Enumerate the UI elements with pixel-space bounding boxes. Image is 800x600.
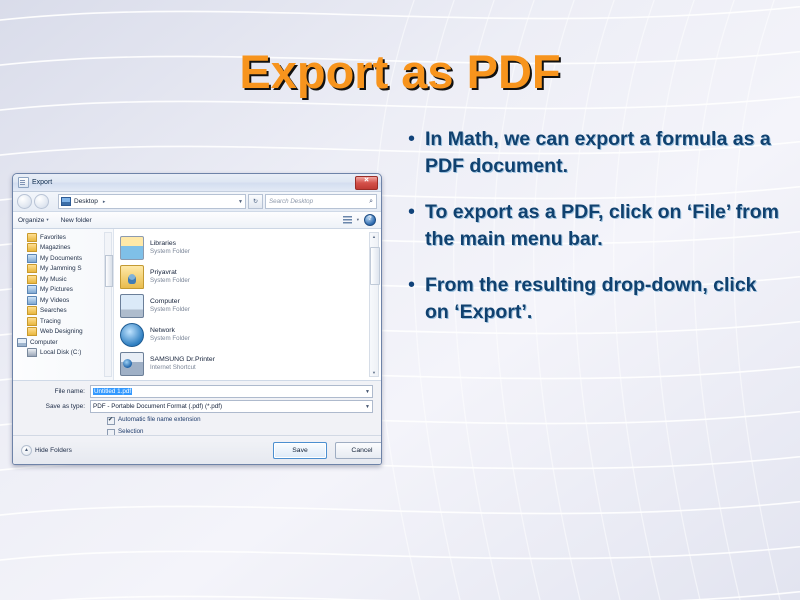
tree-item[interactable]: My Pictures bbox=[17, 285, 113, 296]
tree-item-label: Computer bbox=[30, 339, 58, 346]
network-icon bbox=[120, 323, 144, 347]
libraries-icon bbox=[120, 236, 144, 260]
computer-icon bbox=[17, 338, 27, 347]
folder-icon bbox=[27, 285, 37, 294]
desktop-icon bbox=[61, 197, 71, 206]
disk-icon bbox=[27, 348, 37, 357]
dialog-title: Export bbox=[32, 179, 52, 186]
save-button[interactable]: Save bbox=[273, 442, 327, 459]
folder-icon bbox=[27, 296, 37, 305]
help-icon[interactable]: ? bbox=[364, 214, 376, 226]
list-item: • From the resulting drop-down, click on… bbox=[408, 272, 780, 326]
tree-item[interactable]: My Videos bbox=[17, 295, 113, 306]
new-folder-button[interactable]: New folder bbox=[61, 217, 92, 224]
bullet-text: From the resulting drop-down, click on ‘… bbox=[425, 272, 780, 326]
folder-icon bbox=[27, 264, 37, 273]
search-input[interactable]: Search Desktop ⌕ bbox=[265, 194, 377, 209]
dialog-button-group: Save Cancel bbox=[273, 442, 382, 459]
tree-item-label: Magazines bbox=[40, 244, 70, 251]
tree-item[interactable]: Favorites bbox=[17, 232, 113, 243]
list-item[interactable]: Computer System Folder bbox=[120, 291, 381, 320]
tree-item-label: My Pictures bbox=[40, 286, 73, 293]
bullet-text: To export as a PDF, click on ‘File’ from… bbox=[425, 199, 780, 253]
bullet-text: In Math, we can export a formula as a PD… bbox=[425, 126, 780, 180]
file-name-input[interactable]: Untitled 1.pdf ▼ bbox=[90, 385, 373, 398]
tree-item-label: My Music bbox=[40, 276, 67, 283]
tree-item[interactable]: My Jamming S bbox=[17, 264, 113, 275]
page-title: Export as PDF bbox=[0, 44, 800, 99]
file-subtitle: System Folder bbox=[150, 335, 190, 342]
file-name-label: File name: bbox=[21, 388, 90, 395]
scroll-up-icon[interactable]: ▲ bbox=[371, 234, 377, 239]
file-list-scrollbar[interactable]: ▲ ▼ bbox=[369, 232, 379, 377]
bullet-list: • In Math, we can export a formula as a … bbox=[408, 126, 780, 345]
tree-item-label: Tracing bbox=[40, 318, 61, 325]
hide-folders-label: Hide Folders bbox=[35, 447, 72, 454]
file-name: Network bbox=[150, 327, 190, 334]
file-name: Libraries bbox=[150, 240, 190, 247]
folder-icon bbox=[27, 306, 37, 315]
list-item: • In Math, we can export a formula as a … bbox=[408, 126, 780, 180]
printer-shortcut-icon bbox=[120, 352, 144, 376]
sidebar-scrollbar[interactable] bbox=[104, 232, 112, 377]
dialog-body: Favorites Magazines My Documents My Jamm… bbox=[13, 229, 381, 381]
tree-item[interactable]: Local Disk (C:) bbox=[17, 348, 113, 359]
list-item[interactable]: Libraries System Folder bbox=[120, 233, 381, 262]
tree-item-label: Local Disk (C:) bbox=[40, 349, 81, 356]
computer-icon bbox=[120, 294, 144, 318]
tree-item-label: My Documents bbox=[40, 255, 82, 262]
folder-icon bbox=[27, 233, 37, 242]
user-folder-icon bbox=[120, 265, 144, 289]
file-name: Computer bbox=[150, 298, 190, 305]
bullet-marker-icon: • bbox=[408, 126, 425, 152]
file-name: SAMSUNG Dr.Printer bbox=[150, 356, 215, 363]
tree-item-label: My Videos bbox=[40, 297, 69, 304]
dialog-title-bar: Export bbox=[13, 174, 381, 192]
file-subtitle: System Folder bbox=[150, 248, 190, 255]
tree-item-label: Favorites bbox=[40, 234, 66, 241]
file-name-row: File name: Untitled 1.pdf ▼ bbox=[21, 385, 373, 398]
sidebar-scrollbar-thumb[interactable] bbox=[105, 255, 113, 287]
file-name-value: Untitled 1.pdf bbox=[93, 388, 132, 395]
export-save-dialog: Export Desktop ▸ ▼ ↻ Search Desktop ⌕ Or… bbox=[12, 173, 382, 465]
folder-icon bbox=[27, 327, 37, 336]
toolbar-right-group: ▾ ? bbox=[343, 214, 376, 226]
tree-item[interactable]: Computer bbox=[17, 337, 113, 348]
save-as-type-select[interactable]: PDF - Portable Document Format (.pdf) (*… bbox=[90, 400, 373, 413]
dialog-footer: ▲ Hide Folders Save Cancel bbox=[13, 435, 382, 464]
dialog-navigation-bar: Desktop ▸ ▼ ↻ Search Desktop ⌕ bbox=[13, 192, 381, 212]
chevron-down-icon: ▾ bbox=[46, 217, 48, 223]
tree-item-label: Web Designing bbox=[40, 328, 83, 335]
list-item[interactable]: Network System Folder bbox=[120, 320, 381, 349]
checkbox-icon[interactable] bbox=[107, 417, 115, 425]
automatic-file-name-extension-checkbox[interactable]: Automatic file name extension bbox=[107, 416, 373, 425]
file-label: Network System Folder bbox=[150, 327, 190, 342]
save-as-type-value: PDF - Portable Document Format (.pdf) (*… bbox=[93, 403, 222, 410]
back-button[interactable] bbox=[17, 194, 32, 209]
chevron-down-icon[interactable]: ▾ bbox=[357, 217, 359, 223]
search-placeholder: Search Desktop bbox=[269, 198, 313, 205]
close-icon[interactable] bbox=[355, 176, 378, 190]
file-name: Priyavrat bbox=[150, 269, 190, 276]
forward-button[interactable] bbox=[34, 194, 49, 209]
tree-item[interactable]: Magazines bbox=[17, 243, 113, 254]
save-as-type-row: Save as type: PDF - Portable Document Fo… bbox=[21, 400, 373, 413]
list-item[interactable]: Priyavrat System Folder bbox=[120, 262, 381, 291]
file-subtitle: System Folder bbox=[150, 277, 190, 284]
chevron-right-icon[interactable]: ▸ bbox=[103, 199, 106, 205]
chevron-up-icon: ▲ bbox=[21, 445, 32, 456]
organize-button[interactable]: Organize ▾ bbox=[18, 217, 49, 224]
file-label: Computer System Folder bbox=[150, 298, 190, 313]
cancel-button[interactable]: Cancel bbox=[335, 442, 382, 459]
file-label: Libraries System Folder bbox=[150, 240, 190, 255]
new-folder-label: New folder bbox=[61, 217, 92, 224]
folder-tree-sidebar[interactable]: Favorites Magazines My Documents My Jamm… bbox=[13, 229, 114, 380]
bullet-marker-icon: • bbox=[408, 199, 425, 225]
folder-icon bbox=[27, 243, 37, 252]
document-icon bbox=[18, 177, 29, 188]
folder-icon bbox=[27, 275, 37, 284]
bullet-marker-icon: • bbox=[408, 272, 425, 298]
tree-item-label: My Jamming S bbox=[40, 265, 82, 272]
file-label: Priyavrat System Folder bbox=[150, 269, 190, 284]
chevron-down-icon[interactable]: ▼ bbox=[365, 404, 370, 410]
hide-folders-button[interactable]: ▲ Hide Folders bbox=[21, 445, 72, 456]
file-list[interactable]: Libraries System Folder Priyavrat System… bbox=[114, 229, 381, 380]
search-icon: ⌕ bbox=[369, 198, 373, 206]
refresh-icon[interactable]: ↻ bbox=[248, 194, 263, 209]
dialog-toolbar: Organize ▾ New folder ▾ ? bbox=[13, 212, 381, 229]
scroll-down-icon[interactable]: ▼ bbox=[371, 370, 377, 375]
file-list-scrollbar-thumb[interactable] bbox=[370, 247, 380, 285]
tree-item[interactable]: Web Designing bbox=[17, 327, 113, 338]
folder-icon bbox=[27, 317, 37, 326]
tree-item[interactable]: Tracing bbox=[17, 316, 113, 327]
chevron-down-icon[interactable]: ▼ bbox=[365, 389, 370, 395]
save-as-type-label: Save as type: bbox=[21, 403, 90, 410]
checkbox-label: Automatic file name extension bbox=[118, 416, 201, 423]
address-path: Desktop bbox=[74, 198, 98, 205]
folder-icon bbox=[27, 254, 37, 263]
checkbox-label: Selection bbox=[118, 428, 143, 435]
organize-label: Organize bbox=[18, 217, 44, 224]
tree-item-label: Searches bbox=[40, 307, 67, 314]
dialog-form: File name: Untitled 1.pdf ▼ Save as type… bbox=[13, 381, 381, 437]
file-label: SAMSUNG Dr.Printer Internet Shortcut bbox=[150, 356, 215, 371]
list-item: • To export as a PDF, click on ‘File’ fr… bbox=[408, 199, 780, 253]
file-subtitle: System Folder bbox=[150, 306, 190, 313]
list-item[interactable]: SAMSUNG Dr.Printer Internet Shortcut bbox=[120, 349, 381, 378]
address-bar[interactable]: Desktop ▸ ▼ bbox=[58, 194, 246, 209]
chevron-down-icon[interactable]: ▼ bbox=[238, 199, 243, 205]
tree-item[interactable]: My Documents bbox=[17, 253, 113, 264]
view-options-icon[interactable] bbox=[343, 216, 352, 225]
tree-item[interactable]: Searches bbox=[17, 306, 113, 317]
file-subtitle: Internet Shortcut bbox=[150, 364, 215, 371]
slide: Export as PDF • In Math, we can export a… bbox=[0, 0, 800, 600]
tree-item[interactable]: My Music bbox=[17, 274, 113, 285]
